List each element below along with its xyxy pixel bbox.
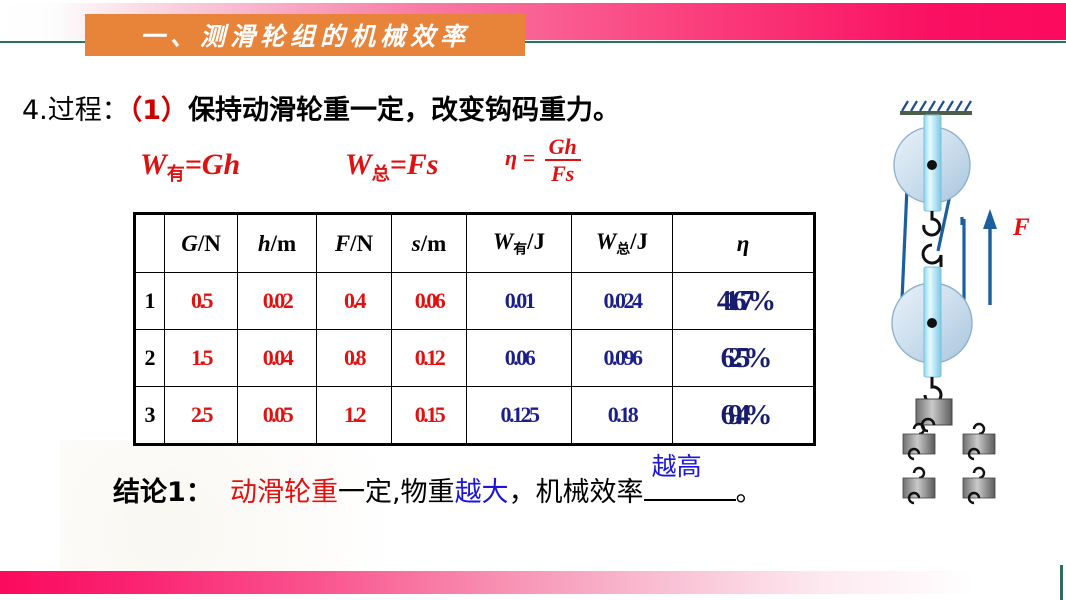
header-sym-Wt: W	[596, 229, 616, 254]
table-header-s: s/m	[392, 214, 467, 273]
background-watermark	[60, 440, 580, 590]
fraction-numerator: Gh	[545, 135, 581, 158]
blank-underline	[644, 499, 736, 501]
conclusion-mid: 一定,物重	[338, 477, 455, 508]
cell-total-work: 0.024	[572, 273, 673, 330]
header-sym-F: F	[335, 231, 350, 256]
table-row: 3 2.5 0.05 1.2 0.15 0.125 0.18 69.4%	[135, 387, 815, 445]
page-title: 一、测滑轮组的机械效率	[140, 17, 470, 53]
conclusion-tail: ，机械效率	[509, 477, 644, 508]
weight-icon	[963, 468, 995, 503]
header-sym-eta: η	[737, 231, 750, 256]
cell-s: 0.06	[392, 273, 467, 330]
header-unit-h: /m	[271, 231, 297, 256]
weight-icon	[903, 468, 935, 503]
step-line: 4.过程：（1）保持动滑轮重一定，改变钩码重力。	[22, 88, 620, 127]
formula-eta-symbol: η	[505, 145, 517, 170]
conclusion-line: 结论1： 动滑轮重一定,物重越大，机械效率越高。	[113, 470, 763, 509]
header-sub-Wt: 总	[616, 242, 630, 257]
step-label: 4.过程：	[22, 95, 129, 126]
cell-G: 1.5	[165, 330, 238, 387]
cell-efficiency: 41.67%	[673, 273, 815, 330]
cell-useful-work: 0.125	[467, 387, 572, 445]
conclusion-blank: 越高	[644, 477, 736, 508]
row-index: 2	[135, 330, 165, 387]
cell-s: 0.15	[392, 387, 467, 445]
formula-total-work: W总=Fs	[345, 148, 438, 186]
hook-icon	[924, 211, 940, 235]
header-sub-Wu: 有	[513, 242, 527, 257]
weight-icon	[903, 424, 935, 459]
table-header-total-work: W总/J	[572, 214, 673, 273]
cell-efficiency: 62.5%	[673, 330, 815, 387]
table-header-G: G/N	[165, 214, 238, 273]
bottom-gradient-bar	[0, 571, 1060, 594]
header-unit-s: /m	[421, 231, 447, 256]
row-index: 3	[135, 387, 165, 445]
formula-useful-work: W有=Gh	[140, 148, 240, 186]
cell-total-work: 0.18	[572, 387, 673, 445]
conclusion-red: 动滑轮重	[230, 477, 338, 508]
table-row: 1 0.5 0.02 0.4 0.06 0.01 0.024 41.67%	[135, 273, 815, 330]
table-header-h: h/m	[238, 214, 317, 273]
cell-h: 0.04	[238, 330, 317, 387]
formula-w-symbol: W	[140, 148, 167, 181]
formula-w-equals: =Gh	[185, 148, 240, 181]
force-arrow-icon	[983, 209, 997, 305]
spare-weights-group	[895, 420, 1035, 510]
header-unit-Wt: /J	[630, 229, 648, 254]
bottom-accent-line	[1060, 565, 1063, 600]
header-unit-Wu: /J	[527, 229, 545, 254]
cell-F: 0.4	[317, 273, 392, 330]
formula-wt-subscript: 总	[372, 164, 390, 184]
conclusion-period: 。	[736, 477, 763, 508]
header-sym-G: G	[181, 231, 198, 256]
blank-answer: 越高	[652, 447, 702, 483]
conclusion-blue: 越大	[455, 477, 509, 508]
table-header-eta: η	[673, 214, 815, 273]
formula-wt-equals: =Fs	[390, 148, 439, 181]
header-sym-s: s	[412, 231, 421, 256]
header-sym-Wu: W	[493, 229, 513, 254]
slide-title-chip: 一、测滑轮组的机械效率	[85, 14, 525, 56]
table-header-F: F/N	[317, 214, 392, 273]
conclusion-label: 结论1：	[113, 477, 213, 508]
row-index: 1	[135, 273, 165, 330]
fraction-denominator: Fs	[545, 162, 581, 185]
cell-useful-work: 0.01	[467, 273, 572, 330]
formula-efficiency: η = Gh Fs	[505, 135, 581, 185]
cell-useful-work: 0.06	[467, 330, 572, 387]
formula-w-subscript: 有	[167, 164, 185, 184]
header-sym-h: h	[258, 231, 271, 256]
cell-F: 0.8	[317, 330, 392, 387]
table-header-row: G/N h/m F/N s/m W有/J W总/J η	[135, 214, 815, 273]
experiment-data-table: G/N h/m F/N s/m W有/J W总/J η 1 0.5	[133, 212, 816, 446]
cell-G: 2.5	[165, 387, 238, 445]
cell-h: 0.02	[238, 273, 317, 330]
cell-efficiency: 69.4%	[673, 387, 815, 445]
formula-eta-equals: =	[523, 145, 536, 170]
cell-G: 0.5	[165, 273, 238, 330]
cell-F: 1.2	[317, 387, 392, 445]
table-header-index	[135, 214, 165, 273]
force-label: F	[1012, 214, 1030, 241]
weight-icon	[963, 424, 995, 459]
cell-total-work: 0.096	[572, 330, 673, 387]
header-unit-G: /N	[198, 231, 221, 256]
cell-s: 0.12	[392, 330, 467, 387]
formula-eta-fraction: Gh Fs	[545, 135, 581, 185]
cell-h: 0.05	[238, 387, 317, 445]
table-header-useful-work: W有/J	[467, 214, 572, 273]
step-text: 保持动滑轮重一定，改变钩码重力。	[188, 95, 620, 126]
formula-wt-symbol: W	[345, 148, 372, 181]
step-number: （1）	[129, 95, 188, 126]
table-row: 2 1.5 0.04 0.8 0.12 0.06 0.096 62.5%	[135, 330, 815, 387]
ceiling-support-icon	[900, 101, 972, 115]
header-unit-F: /N	[350, 231, 373, 256]
